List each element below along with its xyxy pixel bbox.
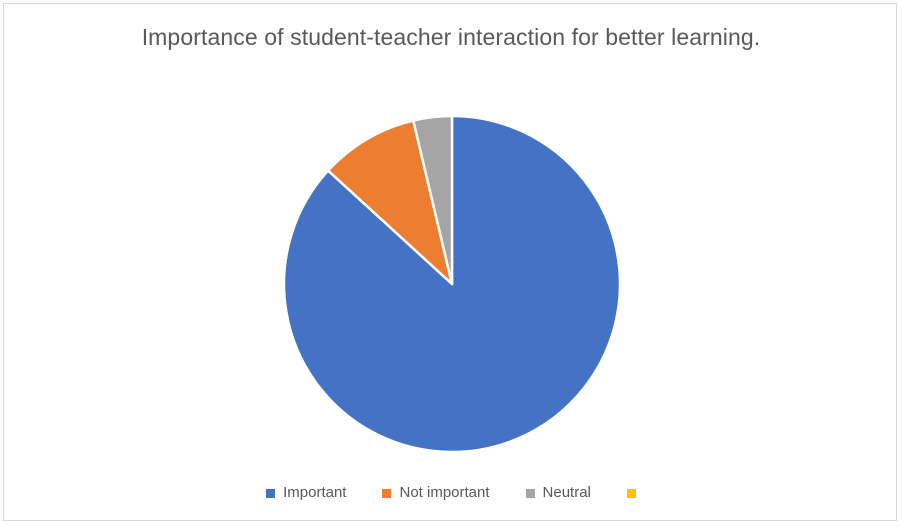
pie-svg	[283, 115, 621, 453]
chart-title: Importance of student-teacher interactio…	[0, 20, 902, 54]
legend-square-icon	[526, 489, 535, 498]
legend-square-icon	[266, 489, 275, 498]
legend-label-important: Important	[283, 484, 346, 502]
legend-entry-neutral[interactable]: Neutral	[526, 484, 591, 502]
pie-chart-container: Importance of student-teacher interactio…	[0, 0, 902, 527]
chart-legend: ImportantNot importantNeutral	[0, 484, 902, 502]
legend-square-icon	[382, 489, 391, 498]
legend-entry-important[interactable]: Important	[266, 484, 346, 502]
legend-entry-unlabeled-3[interactable]	[627, 489, 636, 498]
legend-label-not-important: Not important	[399, 484, 489, 502]
pie-plot-area	[283, 115, 621, 453]
legend-entry-not-important[interactable]: Not important	[382, 484, 489, 502]
legend-square-icon	[627, 489, 636, 498]
legend-label-neutral: Neutral	[543, 484, 591, 502]
pie-slice-group	[284, 116, 620, 452]
